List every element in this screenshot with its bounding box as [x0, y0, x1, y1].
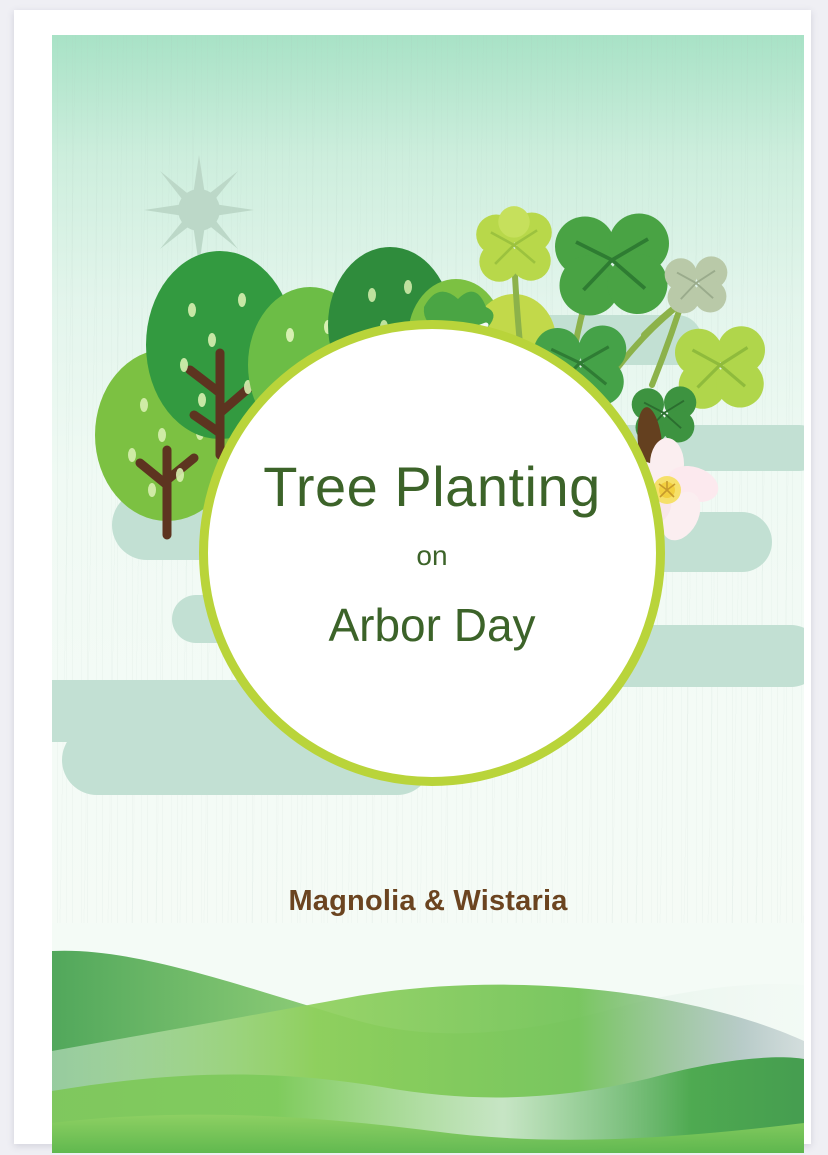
clover-icon [665, 256, 728, 313]
organizers-text: Magnolia & Wistaria [52, 885, 804, 918]
page-title: Tree Planting [263, 458, 601, 517]
poster-root: Tree Planting on Arbor Day Magnolia & Wi… [0, 0, 828, 1155]
title-circle: Tree Planting on Arbor Day [199, 320, 665, 786]
sun-icon [144, 155, 254, 265]
title-connector: on [416, 542, 447, 570]
poster-paper: Tree Planting on Arbor Day Magnolia & Wi… [14, 10, 811, 1144]
poster-artboard: Tree Planting on Arbor Day Magnolia & Wi… [52, 35, 804, 1153]
rolling-hills-illustration [52, 923, 804, 1153]
clover-icon [555, 214, 669, 316]
title-circle-content: Tree Planting on Arbor Day [208, 329, 656, 777]
page-subtitle: Arbor Day [328, 602, 535, 648]
clover-icon [476, 206, 552, 282]
